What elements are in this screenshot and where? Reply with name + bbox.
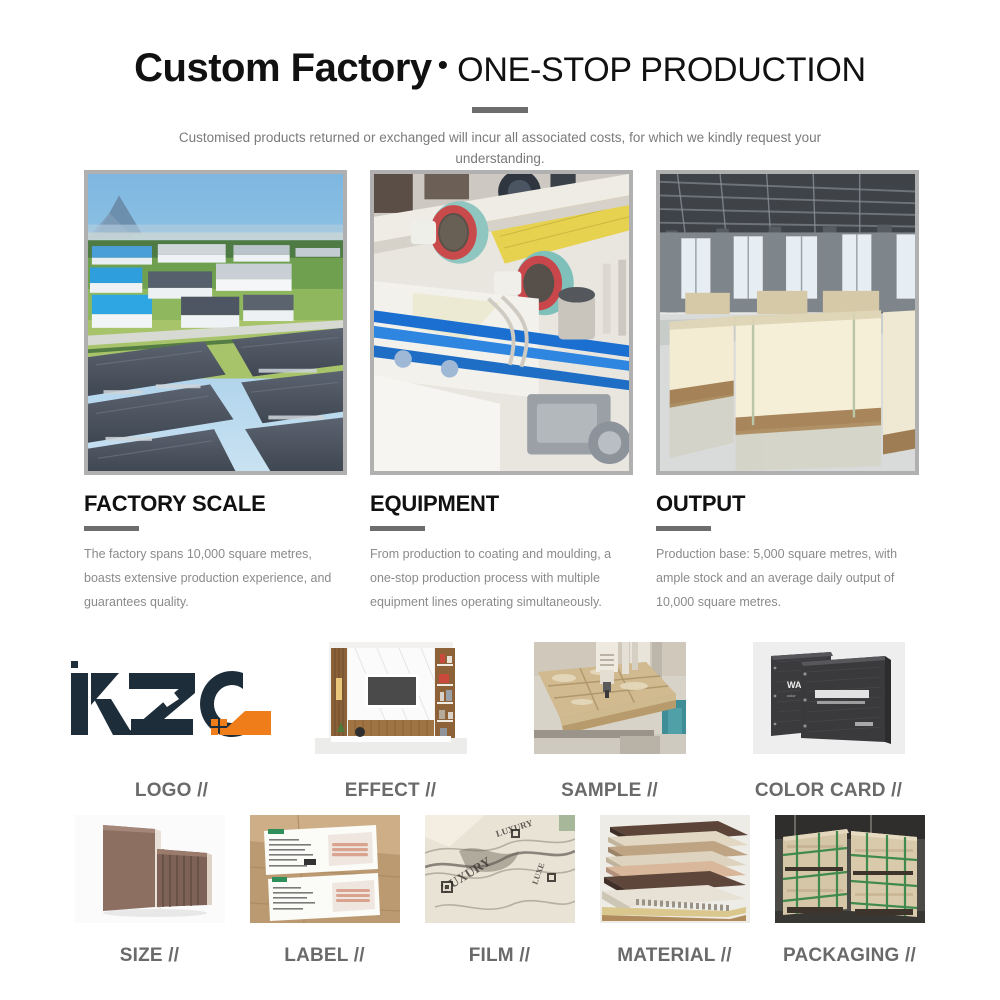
gallery-label-logo: LOGO // xyxy=(135,780,208,802)
label-text: COLOR CARD xyxy=(755,780,886,801)
feature-divider xyxy=(370,526,425,531)
feature-card-output: OUTPUT Production base: 5,000 square met… xyxy=(656,170,919,614)
gallery-label-packaging: PACKAGING // xyxy=(783,945,916,967)
gallery-label-color-card: COLOR CARD // xyxy=(755,780,902,802)
sample-media xyxy=(534,640,686,755)
label-text: FILM xyxy=(469,945,514,966)
label-slashes: // xyxy=(354,945,365,966)
tv-wall-interior-render xyxy=(315,642,467,754)
gallery-item-sample: SAMPLE // xyxy=(500,640,719,802)
label-slashes: // xyxy=(519,945,530,966)
feature-heading: EQUIPMENT xyxy=(370,491,633,517)
feature-cards: FACTORY SCALE The factory spans 10,000 s… xyxy=(84,170,918,614)
label-slashes: // xyxy=(425,780,436,801)
gallery-label-sample: SAMPLE // xyxy=(561,780,658,802)
logo-media xyxy=(64,640,279,755)
feature-heading: FACTORY SCALE xyxy=(84,491,347,517)
gallery-item-film: LUXURY LUXURY LUXE xyxy=(412,815,587,967)
gallery-item-label: LABEL // xyxy=(237,815,412,967)
gallery-item-material: MATERIAL // xyxy=(587,815,762,967)
feature-card-equipment: EQUIPMENT From production to coating and… xyxy=(370,170,633,614)
gallery-label-film: FILM // xyxy=(469,945,531,967)
strapped-pallets-photo xyxy=(775,815,925,923)
label-text: SAMPLE xyxy=(561,780,641,801)
gallery-item-logo: LOGO // xyxy=(62,640,281,802)
aerial-industrial-park-photo xyxy=(84,170,347,475)
cnc-router-cutting-photo xyxy=(534,642,686,754)
gallery-item-color-card: WA color xyxy=(719,640,938,802)
feature-description: The factory spans 10,000 square metres, … xyxy=(84,542,334,614)
gallery-item-size: SIZE // xyxy=(62,815,237,967)
page-subtitle: Customised products returned or exchange… xyxy=(170,127,830,169)
label-text: LABEL xyxy=(284,945,348,966)
gallery-label-label: LABEL // xyxy=(284,945,364,967)
feature-card-factory-scale: FACTORY SCALE The factory spans 10,000 s… xyxy=(84,170,347,614)
feature-divider xyxy=(656,526,711,531)
carton-product-labels-photo xyxy=(250,815,400,923)
page-header: Custom Factory • ONE-STOP PRODUCTION Cus… xyxy=(0,0,1000,169)
factory-capability-page: Custom Factory • ONE-STOP PRODUCTION Cus… xyxy=(0,0,1000,1000)
panel-material-stack-photo xyxy=(600,815,750,923)
feature-heading: OUTPUT xyxy=(656,491,919,517)
title-bullet-icon: • xyxy=(438,51,449,81)
label-slashes: // xyxy=(891,780,902,801)
marble-protective-film-photo: LUXURY LUXURY LUXE xyxy=(425,815,575,923)
label-text: SIZE xyxy=(120,945,163,966)
label-slashes: // xyxy=(197,780,208,801)
kzq-brand-logo xyxy=(64,642,279,754)
label-slashes: // xyxy=(721,945,732,966)
gallery-item-packaging: PACKAGING // xyxy=(762,815,937,967)
production-line-machinery-photo xyxy=(370,170,633,475)
gallery-label-size: SIZE // xyxy=(120,945,179,967)
gallery-row-top: LOGO // xyxy=(62,640,938,802)
label-slashes: // xyxy=(647,780,658,801)
page-title-bold: Custom Factory xyxy=(134,46,432,91)
color-card-catalog-photo: WA color xyxy=(753,642,905,754)
feature-description: Production base: 5,000 square metres, wi… xyxy=(656,542,906,614)
label-slashes: // xyxy=(905,945,916,966)
panel-size-products-photo xyxy=(75,815,225,923)
label-slashes: // xyxy=(168,945,179,966)
feature-divider xyxy=(84,526,139,531)
label-text: MATERIAL xyxy=(617,945,715,966)
color-card-media: WA color xyxy=(753,640,905,755)
gallery-row-bottom: SIZE // xyxy=(62,815,938,967)
svg-text:color: color xyxy=(787,693,796,698)
label-text: PACKAGING xyxy=(783,945,900,966)
label-text: EFFECT xyxy=(345,780,420,801)
gallery-label-effect: EFFECT // xyxy=(345,780,437,802)
effect-media xyxy=(315,640,467,755)
label-text: LOGO xyxy=(135,780,192,801)
svg-text:WA: WA xyxy=(787,680,802,690)
title-divider xyxy=(472,107,528,113)
page-title-light: ONE-STOP PRODUCTION xyxy=(457,51,866,90)
page-title: Custom Factory • ONE-STOP PRODUCTION xyxy=(0,46,1000,91)
gallery-item-effect: EFFECT // xyxy=(281,640,500,802)
gallery-label-material: MATERIAL // xyxy=(617,945,731,967)
warehouse-stacked-panels-photo xyxy=(656,170,919,475)
feature-description: From production to coating and moulding,… xyxy=(370,542,620,614)
